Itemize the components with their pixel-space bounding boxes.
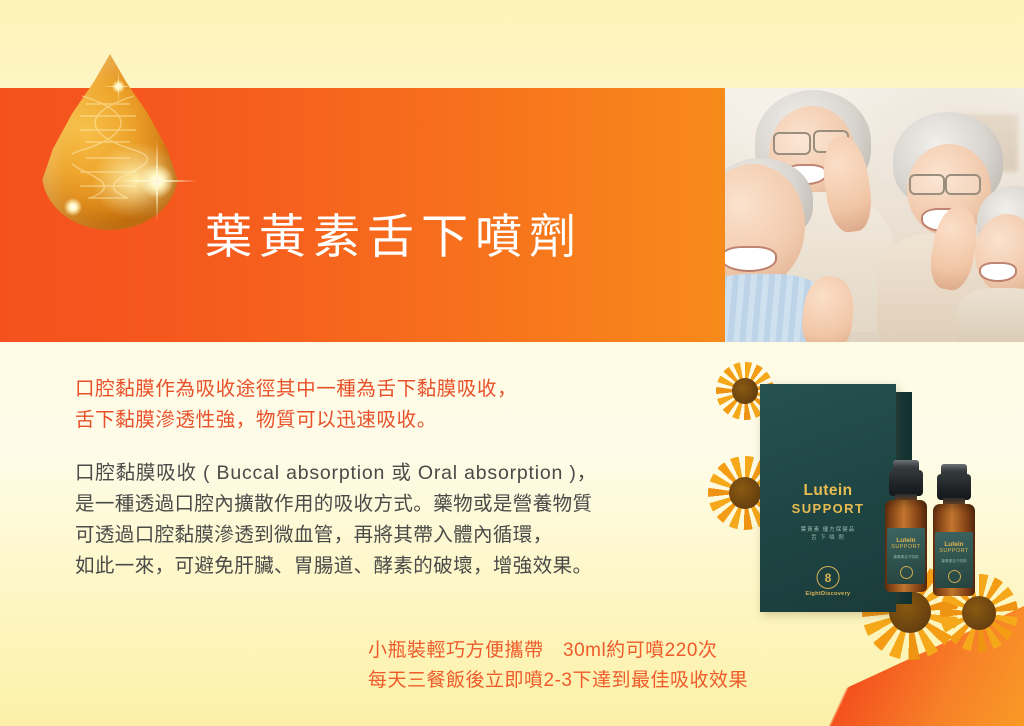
caption-line-2: 每天三餐飯後立即噴2-3下達到最佳吸收效果 <box>368 666 748 696</box>
oil-droplet-graphic <box>28 46 198 236</box>
box-brand-sub: SUPPORT <box>760 500 896 517</box>
bottle-label-sub: SUPPORT <box>935 548 973 554</box>
body-line-3: 可透過口腔黏膜滲透到微血管，再將其帶入體內循環， <box>75 524 553 546</box>
bottle-pump <box>937 474 971 500</box>
person-glasses <box>945 174 981 195</box>
bottle-label-sub: SUPPORT <box>887 544 925 550</box>
bottle-label: Lutein SUPPORT 葉黃素舌下噴劑 <box>935 532 973 588</box>
bottle-label-cn: 葉黃素舌下噴劑 <box>935 559 973 564</box>
person-torso <box>957 288 1024 342</box>
caption-line-1: 小瓶裝輕巧方便攜帶 30ml約可噴220次 <box>368 636 748 666</box>
person-glasses <box>909 174 945 195</box>
bottle-label: Lutein SUPPORT 葉黃素舌下噴劑 <box>887 528 925 584</box>
copy-block: 口腔黏膜作為吸收途徑其中一種為舌下黏膜吸收， 舌下黏膜滲透性強，物質可以迅速吸收… <box>75 374 695 582</box>
seniors-photo <box>725 88 1024 342</box>
product-caption: 小瓶裝輕巧方便攜帶 30ml約可噴220次 每天三餐飯後立即噴2-3下達到最佳吸… <box>368 636 748 696</box>
box-chinese-text: 葉黃素 優方保健品 舌 下 噴 劑 <box>760 526 896 542</box>
bottle-label-brand: Lutein <box>935 541 973 548</box>
brand-logo: EightDiscovery <box>806 566 851 597</box>
page-title: 葉黃素舌下噴劑 <box>205 198 583 267</box>
bottle-body: Lutein SUPPORT 葉黃素舌下噴劑 <box>933 504 975 596</box>
dna-helix-icon <box>72 94 148 220</box>
bottle-label-brand: Lutein <box>887 537 925 544</box>
bottle-label-cn: 葉黃素舌下噴劑 <box>887 555 925 560</box>
person-glasses <box>773 132 811 155</box>
body-paragraph: 口腔黏膜吸收 ( Buccal absorption 或 Oral absorp… <box>75 458 695 582</box>
lead-paragraph: 口腔黏膜作為吸收途徑其中一種為舌下黏膜吸收， 舌下黏膜滲透性強，物質可以迅速吸收… <box>75 374 695 436</box>
product-poster: 葉黃素舌下噴劑 口腔黏膜作為吸收途徑其中一種為舌下黏膜吸收， 舌下黏膜滲透性強，… <box>0 0 1024 726</box>
person-smile <box>725 248 775 270</box>
bottle-body: Lutein SUPPORT 葉黃素舌下噴劑 <box>885 500 927 592</box>
bottle-emblem-icon <box>900 566 913 579</box>
product-box: Lutein SUPPORT 葉黃素 優方保健品 舌 下 噴 劑 EightDi… <box>760 384 896 612</box>
bottle-pump <box>889 470 923 496</box>
box-brand-name: Lutein SUPPORT <box>760 482 896 517</box>
spray-bottle: Lutein SUPPORT 葉黃素舌下噴劑 <box>884 460 928 592</box>
product-group: Lutein SUPPORT 葉黃素 優方保健品 舌 下 噴 劑 EightDi… <box>712 368 1012 640</box>
logo-wordmark: EightDiscovery <box>806 591 851 597</box>
person-smile <box>981 264 1015 280</box>
body-line-1: 口腔黏膜吸收 ( Buccal absorption 或 Oral absorp… <box>75 462 597 484</box>
eight-emblem-icon <box>817 566 840 589</box>
bottle-emblem-icon <box>948 570 961 583</box>
spray-bottle: Lutein SUPPORT 葉黃素舌下噴劑 <box>932 464 976 596</box>
body-line-2: 是一種透過口腔內擴散作用的吸收方式。藥物或是營養物質 <box>75 493 592 515</box>
body-line-4: 如此一來，可避免肝臟、胃腸道、酵素的破壞，增強效果。 <box>75 555 592 577</box>
